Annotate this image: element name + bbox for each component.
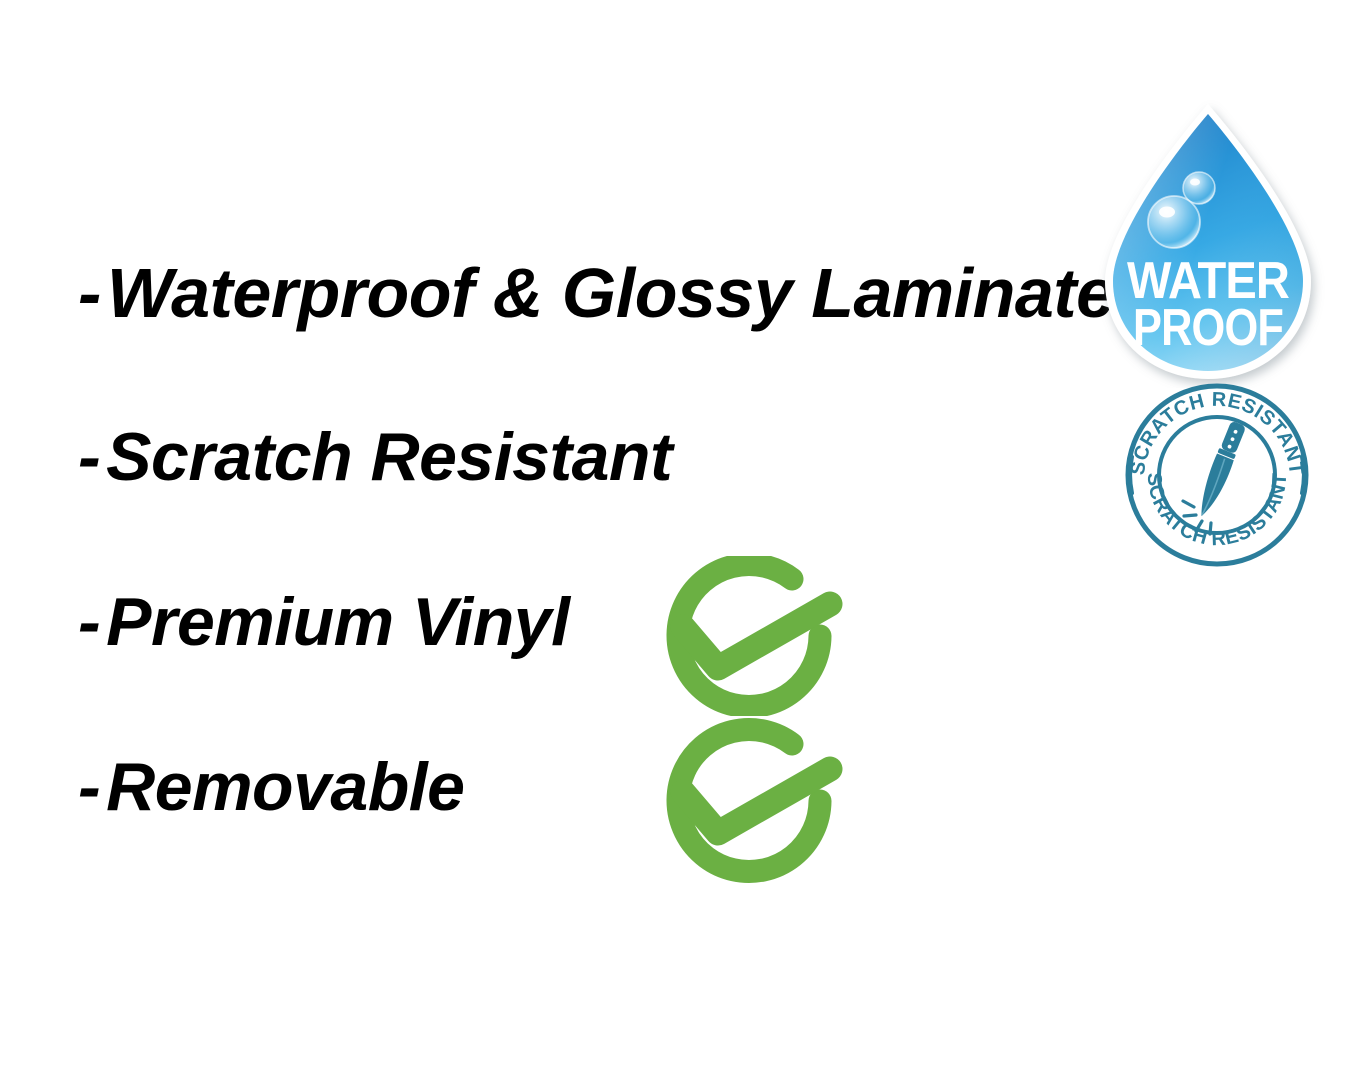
knife-icon: [1193, 420, 1248, 520]
bubble-small-glint: [1190, 179, 1200, 186]
feature-item-waterproof-glossy-laminated: - Waterproof & Glossy Laminated: [78, 258, 1157, 328]
feature-list: - Waterproof & Glossy Laminated - Scratc…: [0, 0, 1100, 1080]
waterproof-line-2: PROOF: [1133, 299, 1283, 357]
bullet-dash: -: [78, 423, 100, 491]
bullet-dash: -: [78, 258, 101, 328]
scratch-resistant-seal-badge: SCRATCH RESISTANT SCRATCH RESISTANT: [1122, 379, 1312, 571]
knife-handle: [1220, 420, 1246, 454]
bullet-dash: -: [78, 753, 100, 821]
knife-blade: [1193, 453, 1234, 519]
feature-item-removable: - Removable: [78, 753, 464, 821]
feature-label: Premium Vinyl: [106, 588, 569, 656]
bubble-large-glint: [1159, 207, 1175, 218]
feature-label: Waterproof & Glossy Laminated: [107, 258, 1157, 328]
feature-item-scratch-resistant: - Scratch Resistant: [78, 423, 672, 491]
feature-item-premium-vinyl: - Premium Vinyl: [78, 588, 570, 656]
feature-label: Scratch Resistant: [106, 423, 672, 491]
bullet-dash: -: [78, 588, 100, 656]
green-check-circle-icon: [640, 716, 850, 886]
bubble-large-icon: [1148, 196, 1200, 248]
green-check-circle-icon: [640, 556, 850, 716]
waterproof-drop-badge: WATER PROOF: [1098, 98, 1328, 388]
feature-label: Removable: [106, 753, 464, 821]
